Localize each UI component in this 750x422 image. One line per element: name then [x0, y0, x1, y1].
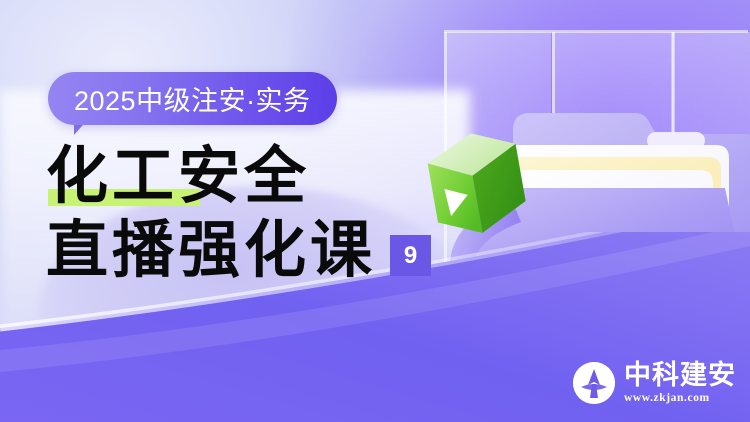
headline-secondary-text: 直播强化课 — [46, 220, 376, 282]
course-category-badge: 2025中级注安·实务 — [48, 72, 337, 125]
headline-line-2: 直播强化课 9 — [46, 220, 476, 282]
course-promo-poster: 2025中级注安·实务 化工安全 直播强化课 9 中科建安 www.zkjan.… — [0, 0, 750, 422]
logo-website-url: www.zkjan.com — [624, 393, 736, 405]
badge-label: 2025中级注安·实务 — [74, 79, 311, 118]
zkjan-circle-logo-icon — [573, 362, 615, 404]
headline-primary-text: 化工安全 — [46, 146, 310, 208]
headline-line-1: 化工安全 — [46, 146, 476, 208]
logo-company-name: 中科建安 — [624, 362, 736, 389]
episode-number-badge: 9 — [390, 235, 431, 276]
headline-block: 化工安全 直播强化课 9 — [46, 146, 476, 282]
brand-logo: 中科建安 www.zkjan.com — [573, 362, 736, 405]
logo-wordmark: 中科建安 www.zkjan.com — [624, 362, 736, 405]
